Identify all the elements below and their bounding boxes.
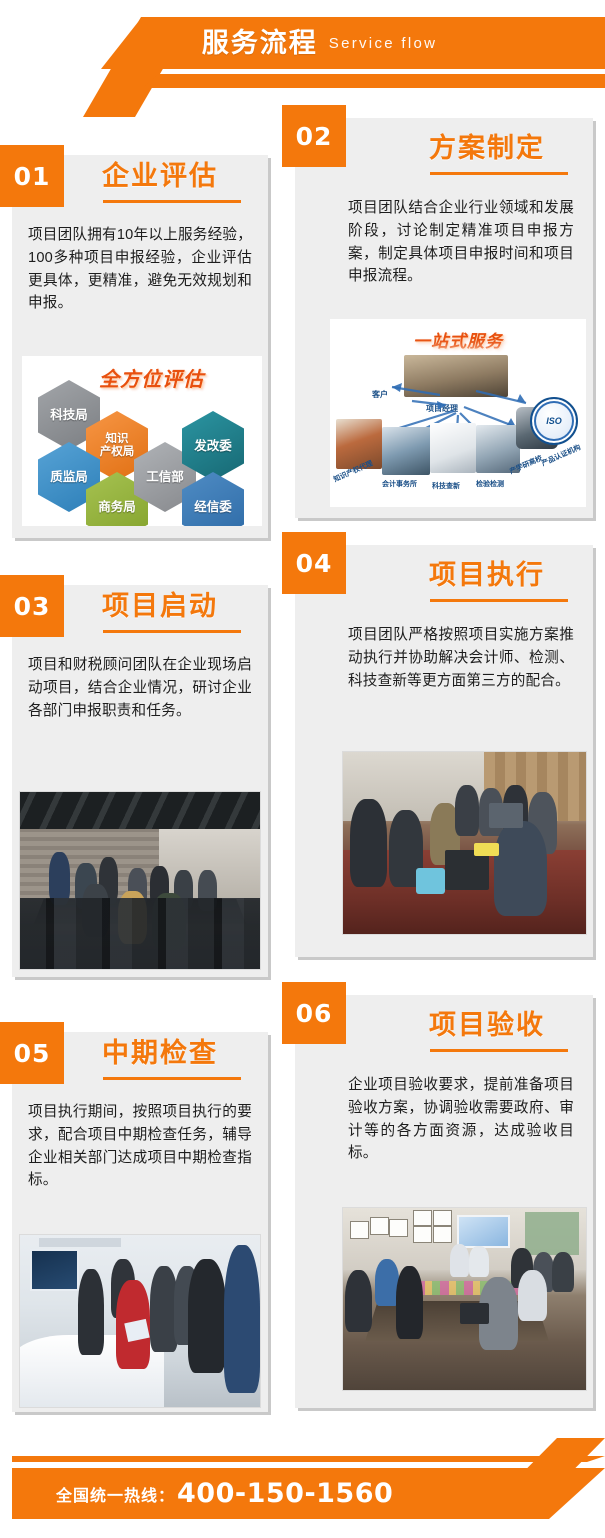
step-number-badge-01: 01 [0,145,64,207]
title-underline-02 [430,172,568,175]
service-label-accounting: 会计事务所 [382,479,417,489]
step-number-badge-05: 05 [0,1022,64,1084]
step-body-06: 企业项目验收要求，提前准备项目验收方案，协调验收需要政府、审计等的各方面资源，达… [348,1074,574,1165]
page-footer: 全国统一热线： 400-150-1560 [0,1420,605,1538]
step-card-02: 02 方案制定 项目团队结合企业行业领域和发展阶段，讨论制定精准项目申报方案，制… [295,118,593,518]
step-body-04: 项目团队严格按照项目实施方案推动执行并协助解决会计师、检测、科技查新等更方面第三… [348,624,574,692]
step-card-06: 06 项目验收 企业项目验收要求，提前准备项目验收方案，协调验收需要政府、审计等… [295,995,593,1408]
step-title-06: 项目验收 [429,1012,545,1039]
hotline-label: 全国统一热线： [56,1482,175,1506]
step-title-01: 企业评估 [102,163,218,190]
step-card-04: 04 项目执行 项目团队严格按照项目实施方案推动执行并协助解决会计师、检测、科技… [295,545,593,957]
hotline-group: 全国统一热线： 400-150-1560 [56,1468,393,1519]
photo-large-meeting-acceptance [343,1208,586,1390]
photo-conference-room-kickoff [20,792,260,969]
title-underline-04 [430,599,568,602]
step-number-badge-03: 03 [0,575,64,637]
hexagon-diagram-title: 全方位评估 [99,363,204,392]
step-body-02: 项目团队结合企业行业领域和发展阶段，讨论制定精准项目申报方案，制定具体项目申报时… [348,197,574,288]
header-title-group: 服务流程 Service flow [0,17,605,69]
page-subtitle: Service flow [329,36,437,51]
photo-team-working-laptops [343,752,586,934]
one-stop-service-diagram: 一站式服务 客户 项目经理 [330,319,586,507]
title-underline-03 [103,630,241,633]
step-number-badge-06: 06 [282,982,346,1044]
step-number-badge-02: 02 [282,105,346,167]
page-title: 服务流程 [202,30,318,57]
photo-showroom-site-visit [20,1235,260,1407]
step-body-01: 项目团队拥有10年以上服务经验，100多种项目申报经验，企业评估更具体，更精准，… [28,224,252,315]
step-card-03: 03 项目启动 项目和财税顾问团队在企业现场启动项目，结合企业情况，研讨企业各部… [12,585,268,977]
step-body-03: 项目和财税顾问团队在企业现场启动项目，结合企业情况，研讨企业各部门申报职责和任务… [28,654,252,722]
hotline-number[interactable]: 400-150-1560 [177,1478,393,1509]
header-accent-stripe [0,74,605,88]
hexagon-assessment-diagram: 全方位评估 科技局 知识产权局 质监局 商务局 工信部 发改委 经信委 [22,356,262,526]
service-node-ip-agency [336,419,382,469]
step-number-badge-04: 04 [282,532,346,594]
step-title-02: 方案制定 [429,135,545,162]
step-card-05: 05 中期检查 项目执行期间，按照项目执行的要求，配合项目中期检查任务，辅导企业… [12,1032,268,1412]
service-node-accounting [382,427,430,475]
service-label-tech-search: 科技查新 [432,481,460,491]
service-node-tech-search [430,423,476,473]
step-title-03: 项目启动 [102,593,218,620]
step-body-05: 项目执行期间，按照项目执行的要求，配合项目中期检查任务，辅导企业相关部门达成项目… [28,1101,252,1192]
title-underline-01 [103,200,241,203]
step-title-04: 项目执行 [429,562,545,589]
page-header: 服务流程 Service flow [0,0,605,118]
title-underline-05 [103,1077,241,1080]
service-label-inspection: 检验检测 [476,479,504,489]
footer-accent-stripe [12,1456,605,1462]
step-card-01: 01 企业评估 项目团队拥有10年以上服务经验，100多种项目申报经验，企业评估… [12,155,268,538]
title-underline-06 [430,1049,568,1052]
service-node-certification-seal: ISO [530,397,578,445]
step-title-05: 中期检查 [102,1040,218,1067]
service-flow-infographic: 服务流程 Service flow 01 企业评估 项目团队拥有10年以上服务经… [0,0,605,1538]
